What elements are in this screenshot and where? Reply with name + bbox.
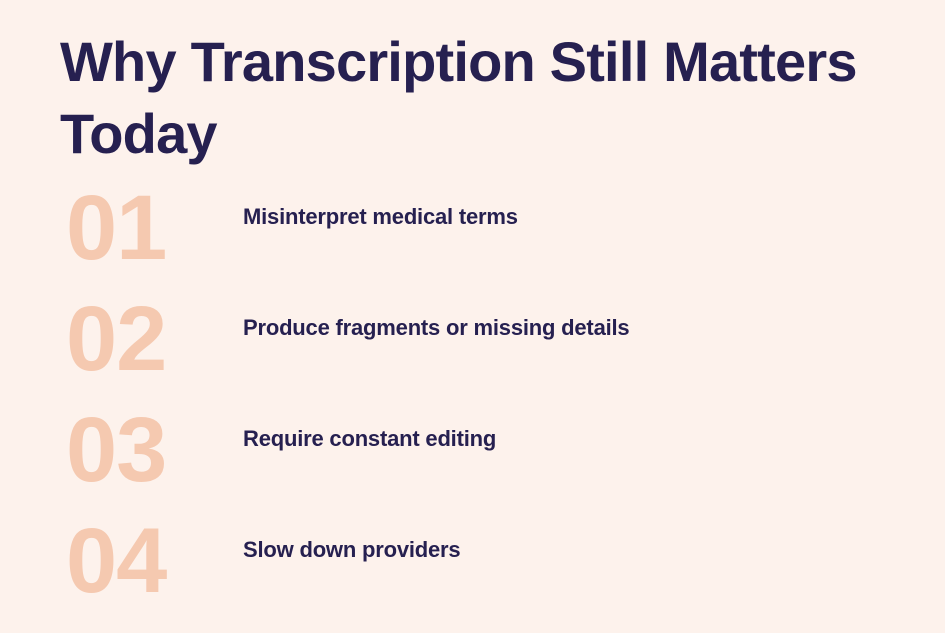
list-item: 04 Slow down providers [0, 522, 945, 633]
list-item-number: 02 [66, 284, 166, 395]
list-item-label: Produce fragments or missing details [243, 314, 629, 342]
reason-list: 01 Misinterpret medical terms 02 Produce… [0, 189, 945, 633]
list-item-number: 04 [66, 506, 166, 617]
list-item-label: Slow down providers [243, 536, 460, 564]
list-item-label: Misinterpret medical terms [243, 203, 518, 231]
slide-canvas: Why Transcription Still Matters Today 01… [0, 0, 945, 629]
list-item-number: 03 [66, 395, 166, 506]
page-title: Why Transcription Still Matters Today [60, 26, 890, 170]
list-item-label: Require constant editing [243, 425, 496, 453]
list-item-number: 01 [66, 173, 166, 284]
